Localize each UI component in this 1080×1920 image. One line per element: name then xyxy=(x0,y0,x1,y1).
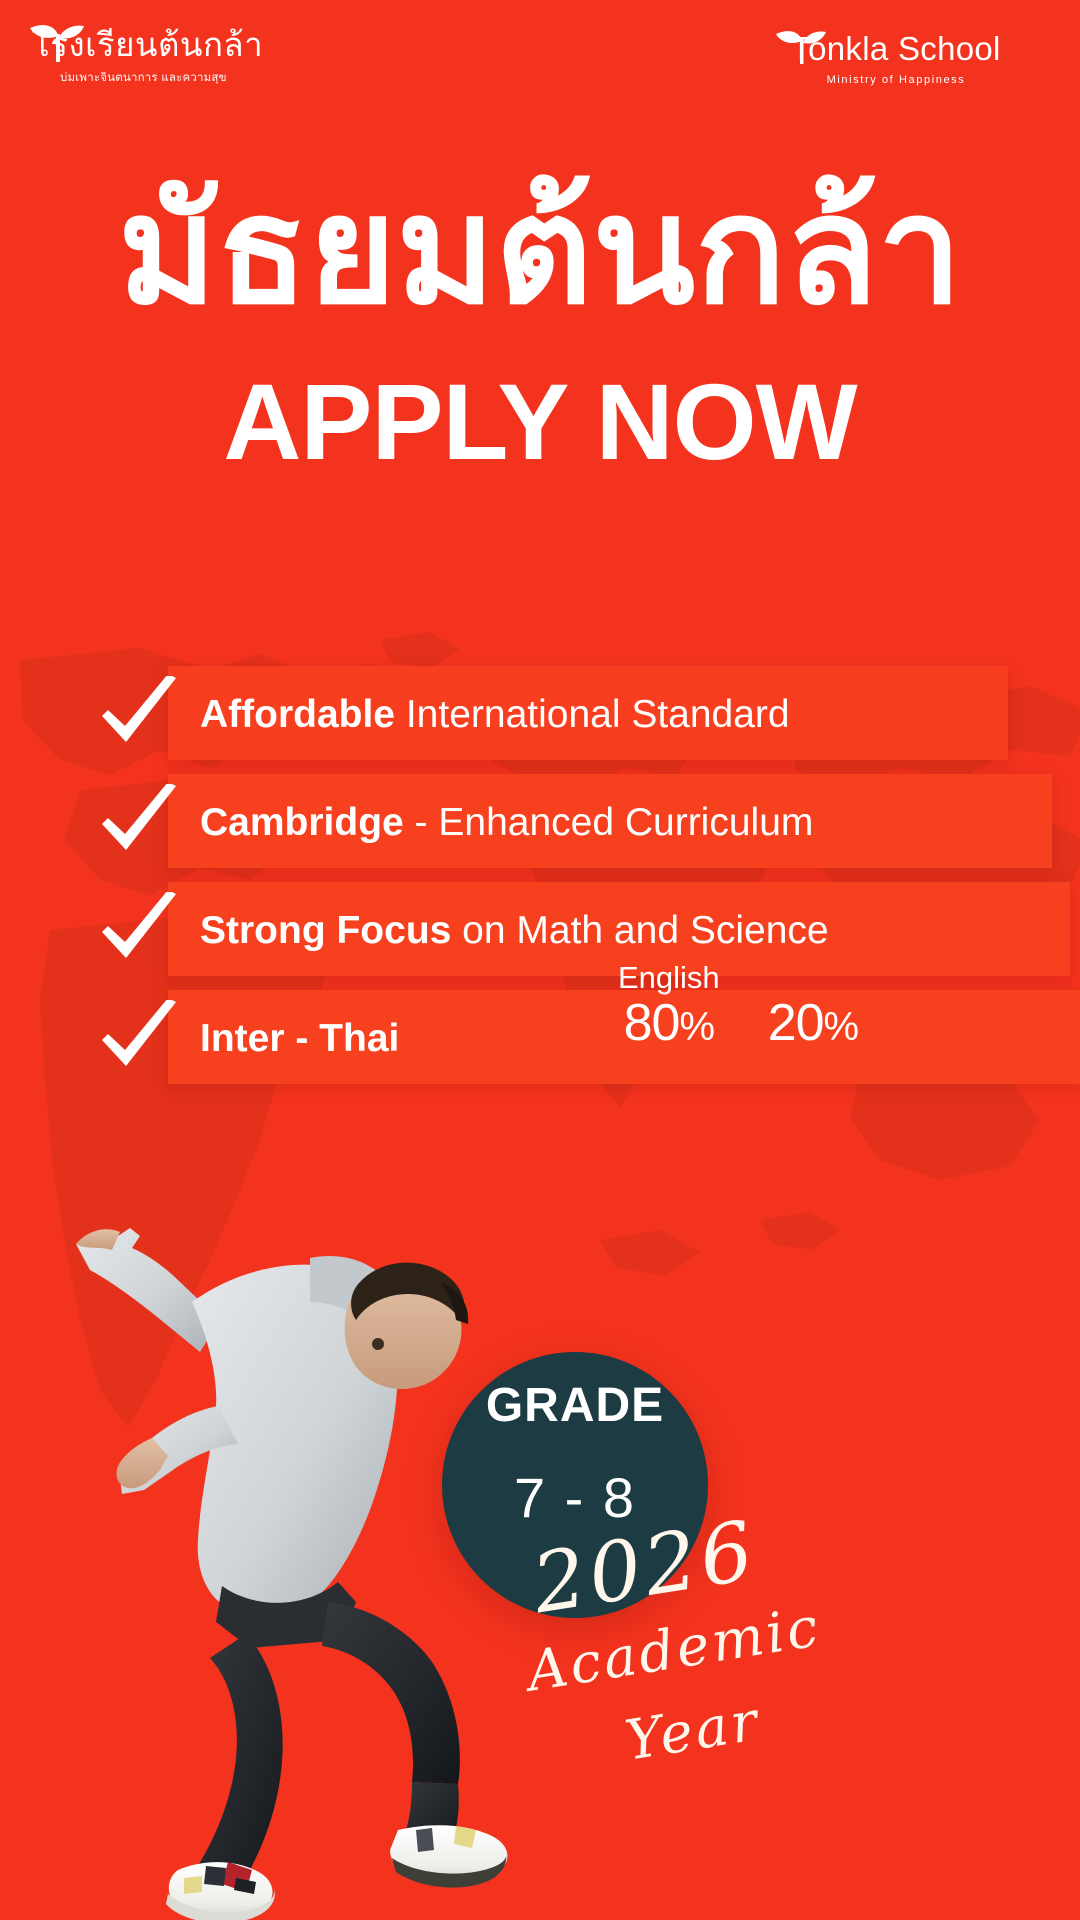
list-item-rest: International Standard xyxy=(395,693,790,736)
list-item-bold: Cambridge xyxy=(200,801,404,844)
english-label: English xyxy=(618,962,720,993)
thai-percent-sign: % xyxy=(824,1005,859,1049)
check-icon xyxy=(96,892,182,968)
list-item-bold: Strong Focus xyxy=(200,909,451,952)
check-icon xyxy=(96,676,182,752)
list-item-label: Inter - Thai xyxy=(200,1019,399,1058)
year-word: Year xyxy=(622,1673,897,1770)
headline-apply-now: APPLY NOW xyxy=(0,368,1080,476)
student-dancing-photo xyxy=(60,1210,540,1920)
check-icon xyxy=(96,784,182,860)
right-logo[interactable]: Tonkla School Ministry of Happiness xyxy=(746,32,1046,86)
poster-root: โรงเรียนต้นกล้า บ่มเพาะจินตนาการ และความ… xyxy=(0,0,1080,1920)
headline-thai: มัธยมต้นกล้า xyxy=(0,175,1080,325)
list-item-rest: on Math and Science xyxy=(451,909,828,952)
list-item-label: Affordable International Standard xyxy=(200,695,790,734)
academic-year-handwriting: 2026 Academic Year xyxy=(476,1548,896,1769)
list-item-bold: Inter - Thai xyxy=(200,1017,399,1060)
list-item-bold: Affordable xyxy=(200,693,395,736)
right-logo-tagline: Ministry of Happiness xyxy=(746,74,1046,86)
english-ratio: English 80% xyxy=(618,962,720,1049)
thai-value: 20% xyxy=(768,997,858,1049)
thai-ratio: 20% xyxy=(768,997,858,1049)
list-item: Strong Focus on Math and Science xyxy=(0,876,1080,984)
list-item: Affordable International Standard xyxy=(0,660,1080,768)
english-number: 80 xyxy=(624,994,680,1052)
language-ratio: English 80% 20% xyxy=(618,962,858,1049)
left-logo[interactable]: โรงเรียนต้นกล้า บ่มเพาะจินตนาการ และความ… xyxy=(26,28,286,87)
list-item: Cambridge - Enhanced Curriculum xyxy=(0,768,1080,876)
thai-number: 20 xyxy=(768,994,824,1052)
list-item-label: Strong Focus on Math and Science xyxy=(200,911,829,950)
left-logo-tagline: บ่มเพาะจินตนาการ และความสุข xyxy=(26,69,286,87)
list-item-rest: - Enhanced Curriculum xyxy=(404,801,814,844)
sprout-icon xyxy=(28,22,86,62)
check-icon xyxy=(96,1000,182,1076)
list-item-label: Cambridge - Enhanced Curriculum xyxy=(200,803,813,842)
sprout-icon xyxy=(774,28,828,64)
feature-list: Affordable International Standard Cambri… xyxy=(0,660,1080,1092)
list-item: Inter - Thai English 80% 20% xyxy=(0,984,1080,1092)
english-value: 80% xyxy=(618,997,720,1049)
english-percent-sign: % xyxy=(679,1005,714,1049)
